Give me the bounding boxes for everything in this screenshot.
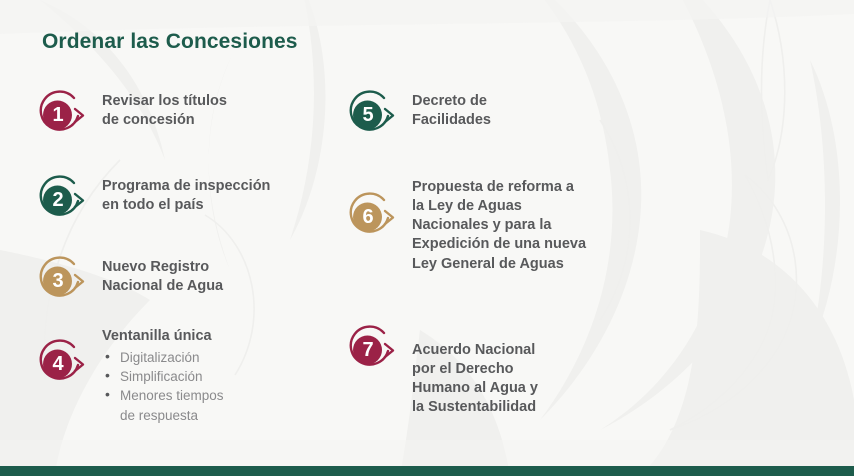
- slide-canvas: Ordenar las Concesiones 1 Revisar los tí…: [0, 0, 854, 476]
- step-item-7[interactable]: 7 Acuerdo Nacional por el Derecho Humano…: [344, 327, 538, 418]
- step-body-1: Revisar los títulos de concesión: [96, 92, 227, 130]
- bottom-accent-bar: [0, 466, 854, 476]
- step-number-1: 1: [34, 88, 81, 142]
- step-number-4: 4: [34, 337, 81, 391]
- step-body-2: Programa de inspección en todo el país: [96, 177, 270, 215]
- step-item-5[interactable]: 5 Decreto de Facilidades: [344, 92, 491, 142]
- step-item-4[interactable]: 4 Ventanilla única Digitalización Simpli…: [34, 327, 224, 425]
- step-item-6[interactable]: 6 Propuesta de reforma a la Ley de Aguas…: [344, 178, 586, 274]
- step-number-7: 7: [344, 323, 391, 377]
- step-title-4: Ventanilla única: [102, 327, 224, 346]
- step-title-7: Acuerdo Nacional por el Derecho Humano a…: [412, 341, 538, 418]
- step-title-5: Decreto de Facilidades: [412, 92, 491, 130]
- step-badge-6: 6: [344, 190, 406, 244]
- step-item-3[interactable]: 3 Nuevo Registro Nacional de Agua: [34, 258, 223, 308]
- step-badge-3: 3: [34, 254, 96, 308]
- step-body-5: Decreto de Facilidades: [406, 92, 491, 130]
- step-badge-5: 5: [344, 88, 406, 142]
- list-item: Digitalización: [102, 348, 224, 367]
- step-body-3: Nuevo Registro Nacional de Agua: [96, 258, 223, 296]
- step-badge-2: 2: [34, 173, 96, 227]
- step-body-6: Propuesta de reforma a la Ley de Aguas N…: [406, 178, 586, 274]
- step-number-5: 5: [344, 88, 391, 142]
- step-badge-7: 7: [344, 323, 406, 377]
- step-item-1[interactable]: 1 Revisar los títulos de concesión: [34, 92, 227, 142]
- step-badge-1: 1: [34, 88, 96, 142]
- step-number-3: 3: [34, 254, 81, 308]
- list-item: Simplificación: [102, 367, 224, 386]
- list-item: Menores tiempos de respuesta: [102, 386, 224, 424]
- step-title-1: Revisar los títulos de concesión: [102, 92, 227, 130]
- step-body-4: Ventanilla única Digitalización Simplifi…: [96, 327, 224, 425]
- step-title-3: Nuevo Registro Nacional de Agua: [102, 258, 223, 296]
- step-bullets-4: Digitalización Simplificación Menores ti…: [102, 348, 224, 425]
- step-badge-4: 4: [34, 337, 96, 391]
- page-title: Ordenar las Concesiones: [42, 30, 298, 54]
- step-number-2: 2: [34, 173, 81, 227]
- step-item-2[interactable]: 2 Programa de inspección en todo el país: [34, 177, 270, 227]
- step-title-2: Programa de inspección en todo el país: [102, 177, 270, 215]
- step-body-7: Acuerdo Nacional por el Derecho Humano a…: [406, 327, 538, 418]
- step-number-6: 6: [344, 190, 391, 244]
- step-title-6: Propuesta de reforma a la Ley de Aguas N…: [412, 178, 586, 274]
